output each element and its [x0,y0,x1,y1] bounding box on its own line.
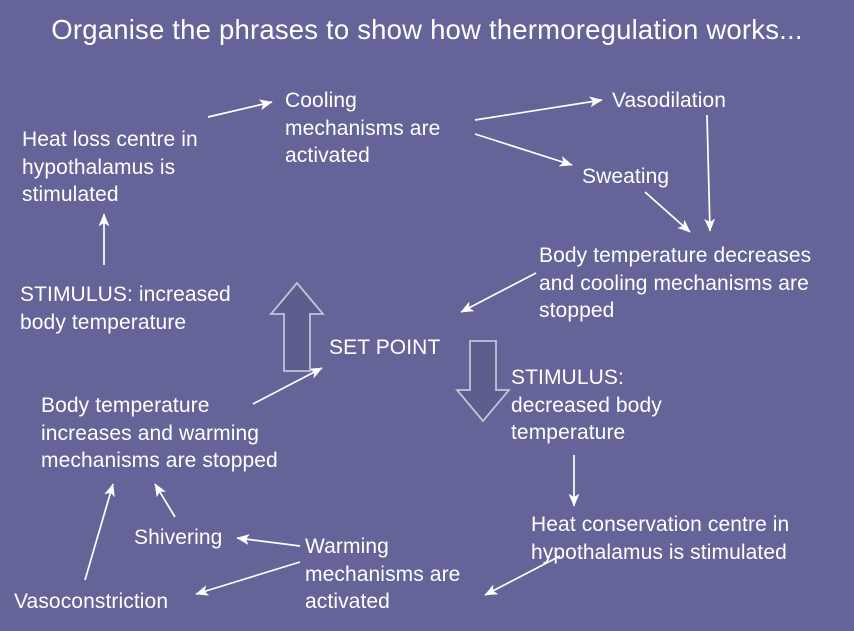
node-stimulus-decreased: STIMULUS: decreased body temperature [511,364,711,447]
arrow-heatloss-to-cooling [208,102,272,117]
node-vasodilation: Vasodilation [612,87,792,115]
node-shivering: Shivering [134,524,284,552]
thermoregulation-diagram: Organise the phrases to show how thermor… [0,0,854,631]
node-vasoconstriction: Vasoconstriction [14,588,214,616]
node-set-point: SET POINT [329,334,489,362]
node-body-temperature-decreases: Body temperature decreases and cooling m… [539,242,849,325]
node-warming-mechanisms: Warming mechanisms are activated [305,533,500,616]
arrow-cooling-to-sweating [475,134,572,165]
node-cooling-mechanisms: Cooling mechanisms are activated [285,87,475,170]
arrow-sweating-to-bodytempdecreases [645,192,690,232]
node-heat-loss-centre: Heat loss centre in hypothalamus is stim… [22,126,252,209]
arrow-cooling-to-vasodilation [475,100,602,120]
page-title: Organise the phrases to show how thermor… [0,14,854,46]
node-heat-conservation-centre: Heat conservation centre in hypothalamus… [531,511,851,566]
node-sweating: Sweating [582,163,722,191]
node-body-temperature-increases: Body temperature increases and warming m… [41,392,316,475]
arrow-shivering-to-bodytempincreases [155,484,175,517]
arrow-vasoconstriction-to-bodytempincreases [85,484,113,580]
node-stimulus-increased: STIMULUS: increased body temperature [20,281,290,336]
arrow-bodytempdecreases-to-setpoint [461,273,536,312]
